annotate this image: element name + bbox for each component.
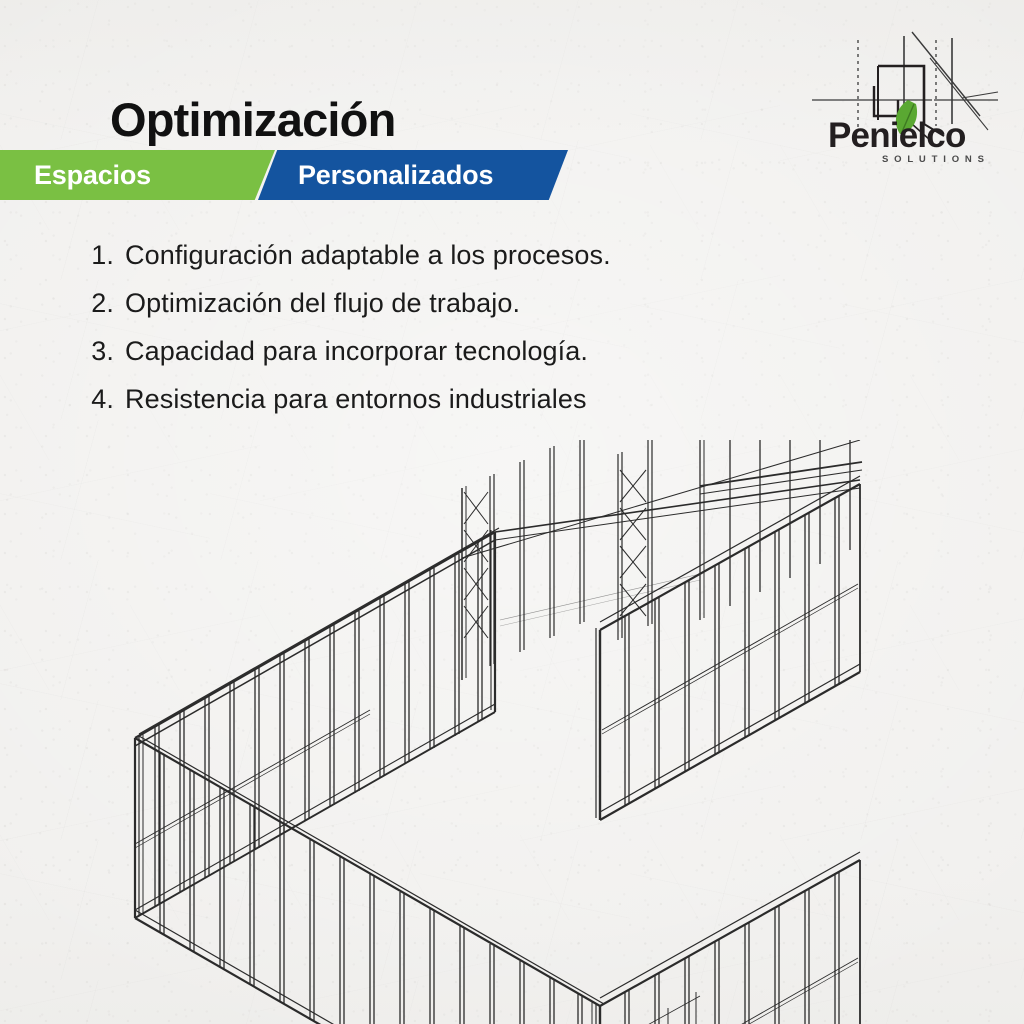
- brand-logo[interactable]: Penielco S O L U T I O N S: [812, 28, 1002, 168]
- feature-list: 1. Configuración adaptable a los proceso…: [80, 240, 780, 432]
- framing-linework: [135, 440, 870, 1024]
- ribbon-banner-group: Espacios Personalizados: [0, 150, 600, 200]
- list-item-number: 1.: [80, 240, 114, 271]
- ribbon-espacios: Espacios: [0, 150, 275, 200]
- list-item: 3. Capacidad para incorporar tecnología.: [80, 336, 780, 384]
- list-item: 2. Optimización del flujo de trabajo.: [80, 288, 780, 336]
- list-item-number: 3.: [80, 336, 114, 367]
- list-item-label: Configuración adaptable a los procesos.: [125, 240, 611, 271]
- ribbon-espacios-label: Espacios: [34, 160, 151, 191]
- list-item: 4. Resistencia para entornos industriale…: [80, 384, 780, 432]
- logo-wordmark: Penielco: [828, 116, 966, 155]
- list-item-number: 4.: [80, 384, 114, 415]
- list-item-label: Capacidad para incorporar tecnología.: [125, 336, 588, 367]
- page-title: Optimización: [110, 96, 395, 143]
- logo-tagline: S O L U T I O N S: [882, 154, 986, 165]
- isometric-framing-illustration: [0, 440, 1024, 1024]
- list-item-label: Optimización del flujo de trabajo.: [125, 288, 520, 319]
- ribbon-personalizados-label: Personalizados: [298, 160, 493, 191]
- list-item-number: 2.: [80, 288, 114, 319]
- list-item: 1. Configuración adaptable a los proceso…: [80, 240, 780, 288]
- poster-canvas: Penielco S O L U T I O N S Optimización …: [0, 0, 1024, 1024]
- list-item-label: Resistencia para entornos industriales: [125, 384, 587, 415]
- ribbon-personalizados: Personalizados: [258, 150, 568, 200]
